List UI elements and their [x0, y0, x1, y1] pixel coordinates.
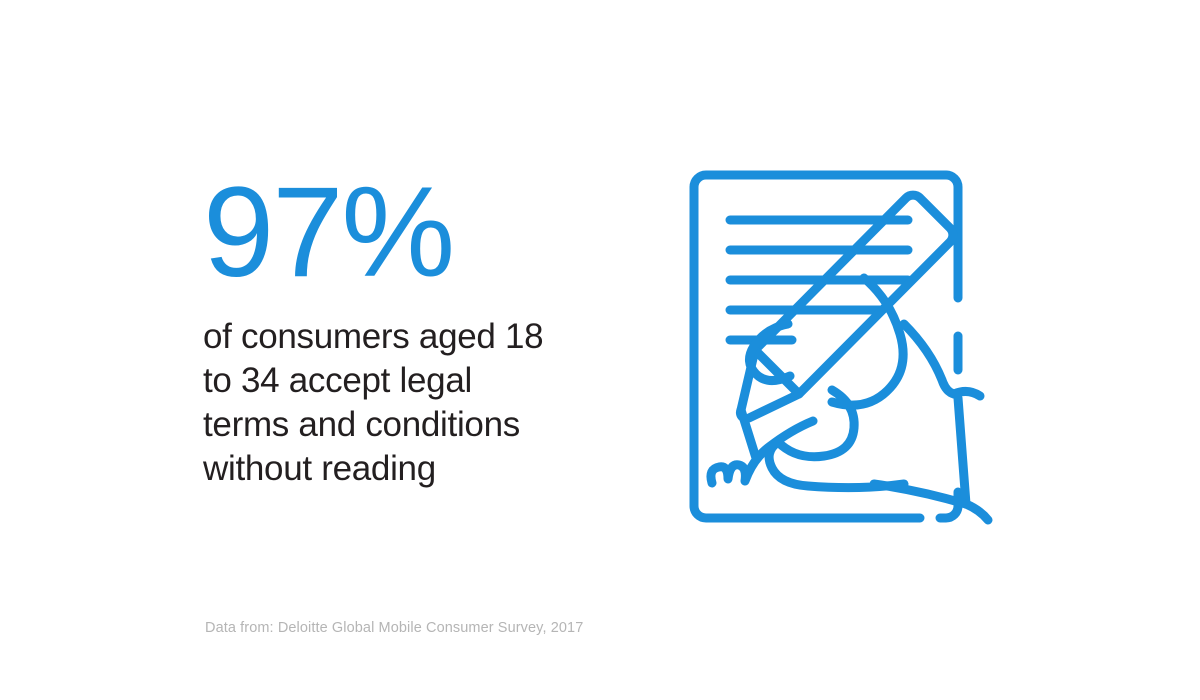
hand-back [904, 324, 954, 394]
hand-wrist-bottom [874, 484, 966, 504]
hand-thumb [749, 324, 790, 381]
statistic-block: 97% of consumers aged 18 to 34 accept le… [203, 168, 623, 491]
stat-figure: 97% [203, 168, 623, 299]
pen-barrel [755, 195, 953, 394]
footnote-source: Data from: Deloitte Global Mobile Consum… [205, 620, 583, 636]
infographic-slide: 97% of consumers aged 18 to 34 accept le… [0, 0, 1200, 700]
hand-wrist-edge [966, 504, 988, 520]
stat-description: of consumers aged 18 to 34 accept legal … [203, 315, 563, 491]
signed-document-icon [668, 158, 1018, 548]
